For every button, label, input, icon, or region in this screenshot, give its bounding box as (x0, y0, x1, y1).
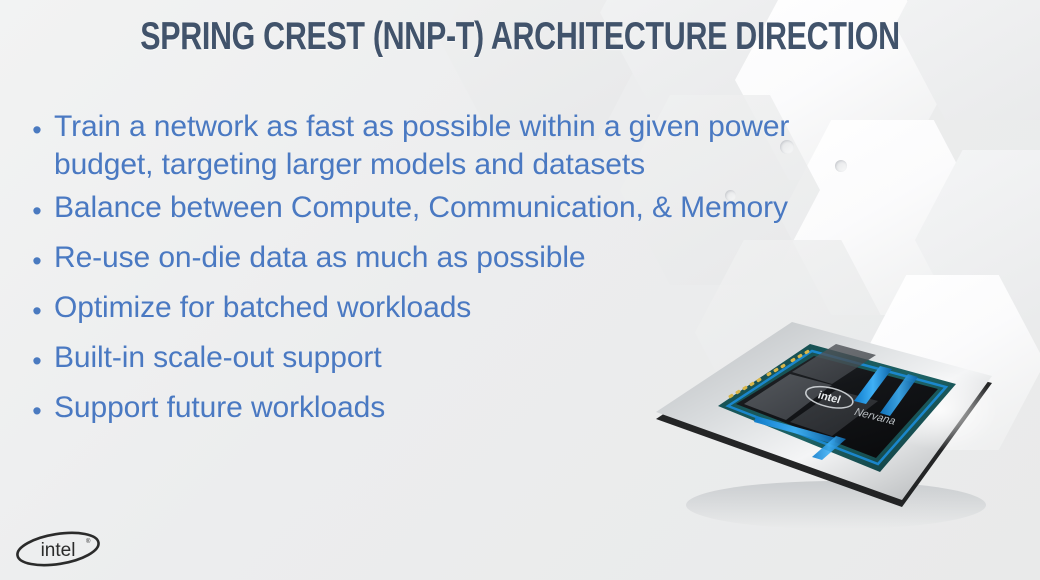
bullet-marker-icon: • (20, 239, 54, 284)
intel-logo-trademark: ® (86, 538, 91, 545)
bullet-marker-icon: • (20, 108, 54, 153)
bullet-item: • Re-use on-die data as much as possible (20, 239, 880, 284)
bullet-text: Train a network as fast as possible with… (54, 108, 880, 184)
slide-title: SPRING CREST (NNP-T) ARCHITECTURE DIRECT… (114, 17, 925, 56)
bullet-marker-icon: • (20, 189, 54, 234)
slide-canvas: SPRING CREST (NNP-T) ARCHITECTURE DIRECT… (0, 0, 1040, 580)
chip-shadow (686, 481, 986, 529)
bullet-marker-icon: • (20, 339, 54, 384)
bullet-item: • Balance between Compute, Communication… (20, 189, 880, 234)
bullet-text: Balance between Compute, Communication, … (54, 189, 880, 227)
intel-logo: intel ® (12, 528, 104, 570)
bullet-item: • Train a network as fast as possible wi… (20, 108, 880, 184)
bullet-marker-icon: • (20, 289, 54, 334)
nnp-t-chip-image: intel Nervana (640, 300, 1010, 535)
bullet-marker-icon: • (20, 389, 54, 434)
bullet-text: Re-use on-die data as much as possible (54, 239, 880, 277)
intel-logo-text: intel (41, 540, 76, 561)
